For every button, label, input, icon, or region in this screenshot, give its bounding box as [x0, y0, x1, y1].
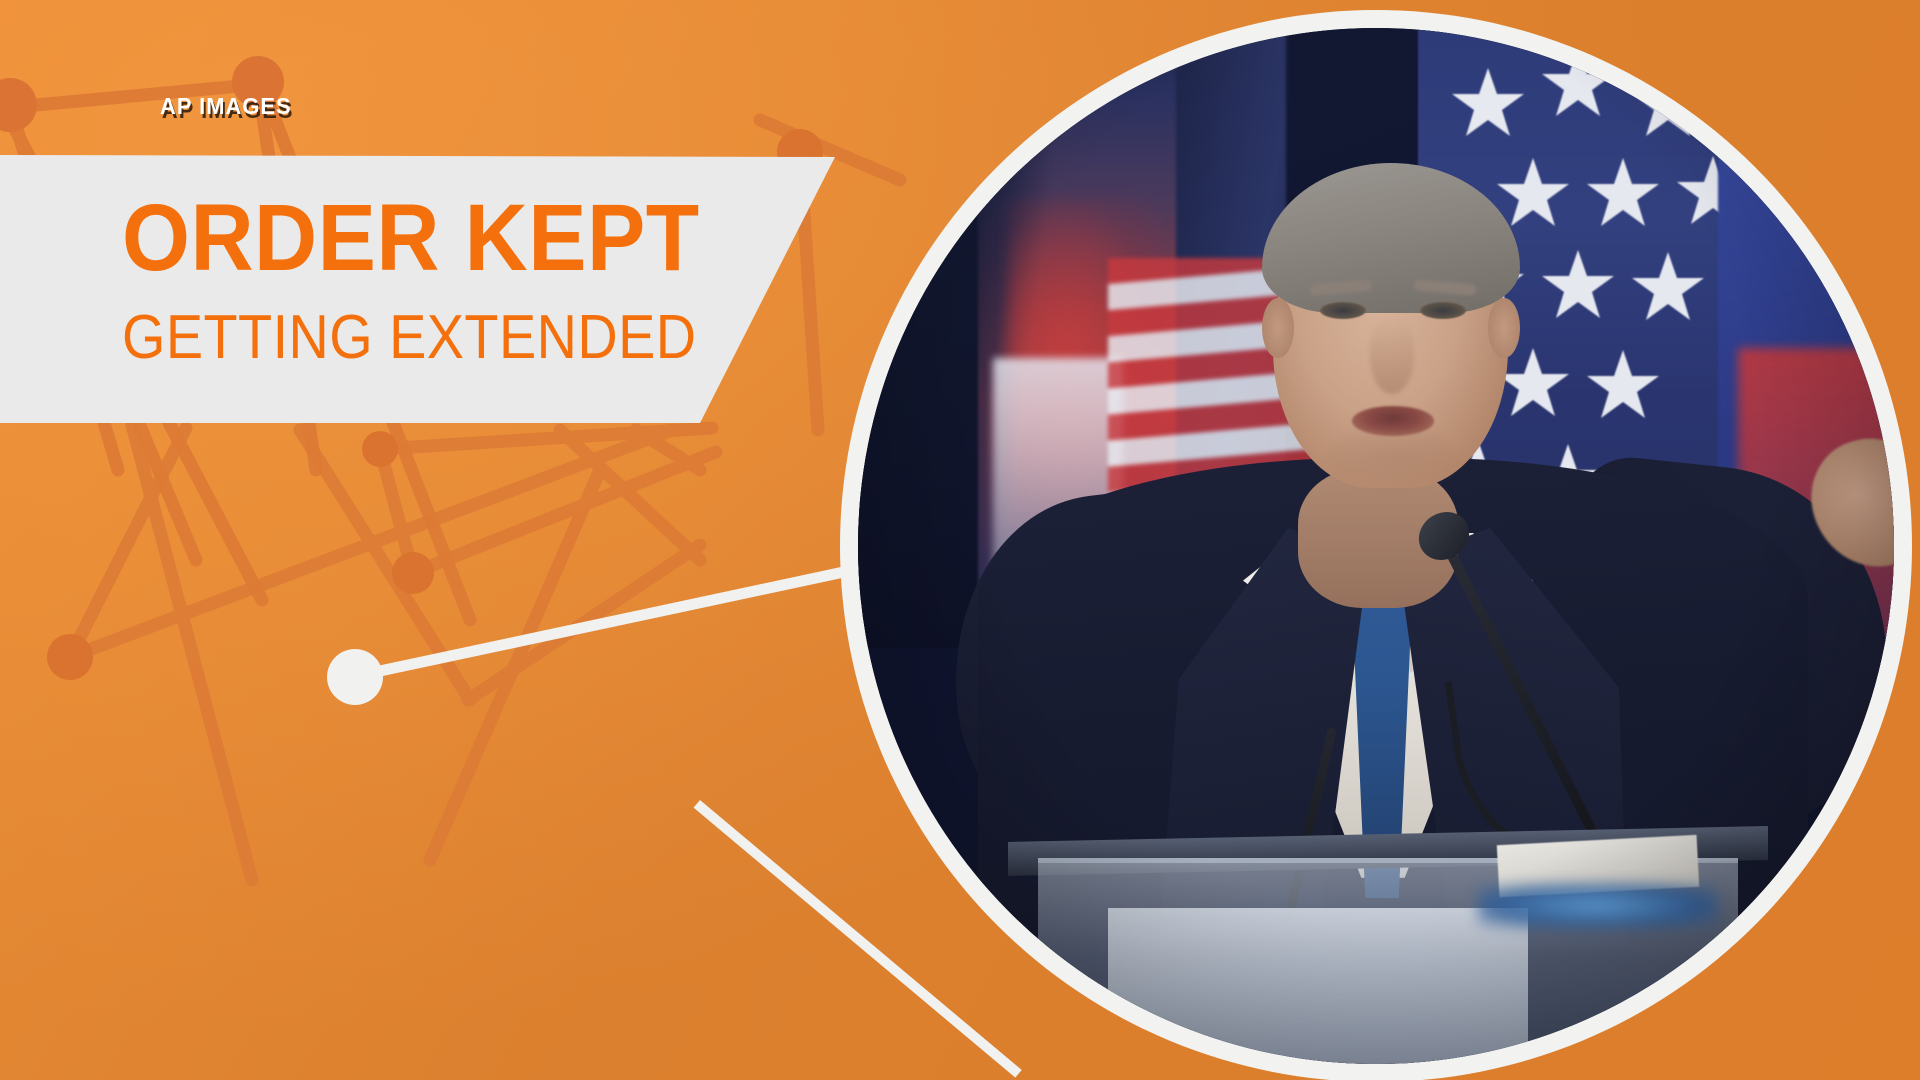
photo-image — [858, 28, 1894, 1064]
headline-panel — [0, 155, 835, 423]
circular-photo-frame — [840, 10, 1912, 1080]
news-graphic-frame: AP IMAGES ORDER KEPT GETTING EXTENDED — [0, 0, 1920, 1080]
photo-vignette — [858, 28, 1894, 1064]
image-credit: AP IMAGES — [160, 93, 292, 120]
